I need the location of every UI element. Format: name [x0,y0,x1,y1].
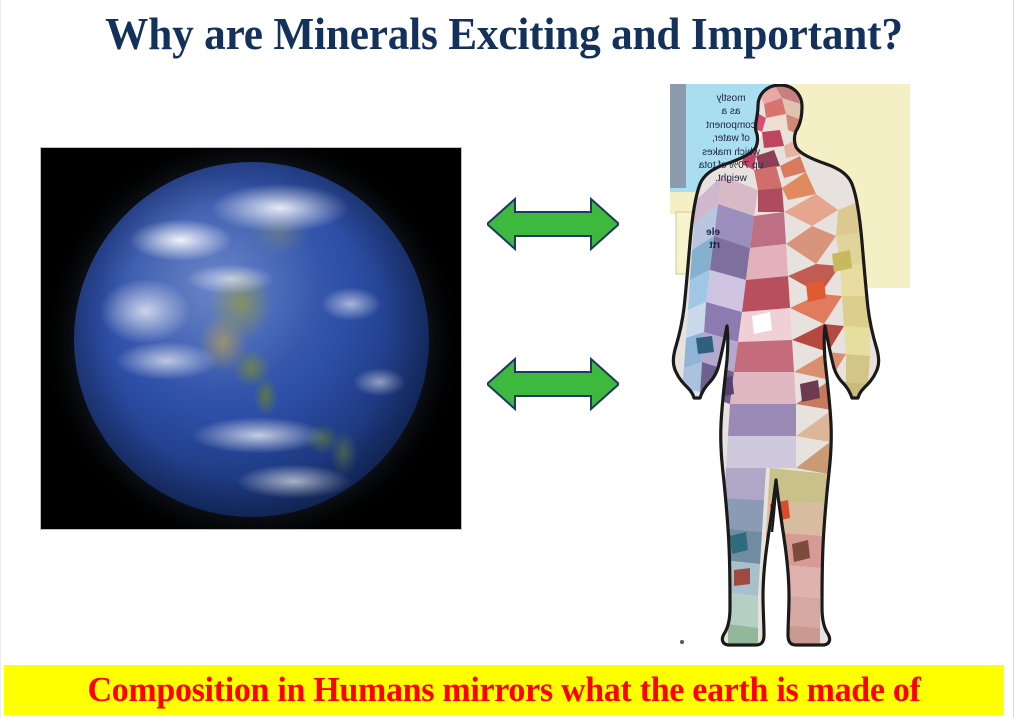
double-arrow-bottom-icon [487,356,619,412]
element-note-line: rtt [680,239,720,252]
human-body-image: mostly as a component of water, which ma… [670,84,910,660]
caption-text: Composition in Humans mirrors what the e… [19,665,989,715]
water-note-line: weight. [672,172,790,185]
slide-title: Why are Minerals Exciting and Important? [30,3,978,65]
water-note-line: mostly [672,92,790,105]
earth-globe-graphic [74,162,429,517]
water-note-line: component [672,119,790,132]
water-note-line: up 70% of tota [672,159,790,172]
slide-canvas: Why are Minerals Exciting and Important? [0,0,1024,718]
slide-right-border [1013,0,1014,718]
water-note-line: which makes [672,146,790,159]
earth-image [40,147,462,530]
water-note-line: of water, [672,132,790,145]
double-arrow-top-icon [487,196,619,252]
element-note-mirrored: ele rtt [680,226,720,253]
slide-left-border [0,0,1,718]
element-note-line: ele [680,226,720,239]
water-note-line: as a [672,105,790,118]
caption-banner: Composition in Humans mirrors what the e… [4,665,1004,715]
water-note-mirrored: mostly as a component of water, which ma… [672,92,790,186]
